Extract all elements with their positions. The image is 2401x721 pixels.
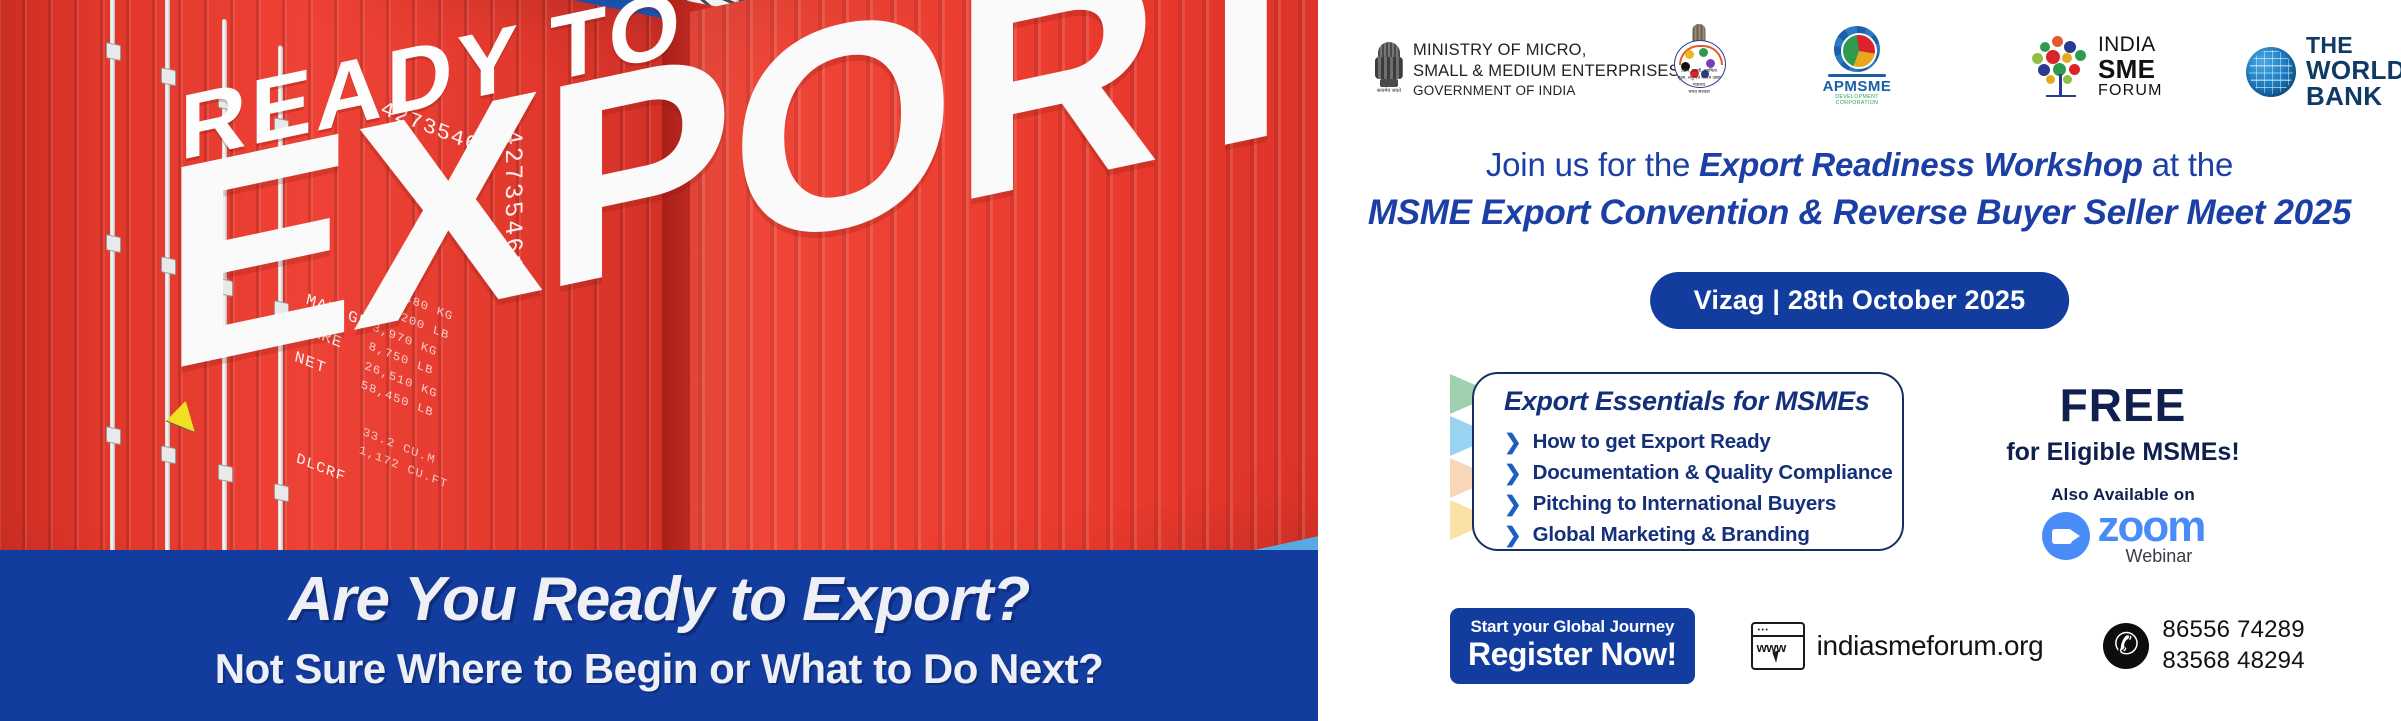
event-banner: 42735461 42735461 MAX GR TARE NET 30,480… — [0, 0, 2401, 721]
partner-logo-row: सत्यमेव जयते MINISTRY OF MICRO, SMALL & … — [1318, 22, 2401, 118]
ministry-line-3: GOVERNMENT OF INDIA — [1413, 82, 1680, 99]
container-rib — [986, 0, 990, 608]
essentials-list: ❯ How to get Export Ready ❯ Documentatio… — [1504, 430, 1893, 554]
essentials-box: Export Essentials for MSMEs ❯ How to get… — [1472, 372, 1904, 551]
container-rib — [1250, 0, 1254, 551]
logo-ministry-msme: सत्यमेव जयते MINISTRY OF MICRO, SMALL & … — [1374, 40, 1680, 99]
chevron-right-icon: ❯ — [1504, 432, 1522, 453]
isf-word-india: INDIA — [2098, 34, 2163, 56]
container-rib — [842, 0, 846, 639]
zoom-camera-icon — [2042, 512, 2090, 560]
container-rib — [1226, 0, 1230, 556]
container-rib — [962, 0, 966, 613]
udyami-bharat-icon: उद्यम, उद्यमी, उद्यमिता सूक्ष्म, लघु एवं… — [1668, 24, 1730, 104]
join-line: Join us for the Export Readiness Worksho… — [1318, 146, 2401, 184]
hero-image: 42735461 42735461 MAX GR TARE NET 30,480… — [0, 0, 1318, 721]
rod-clamp — [161, 67, 176, 86]
world-bank-globe-icon — [2246, 47, 2296, 97]
cta-row: Start your Global Journey Register Now! … — [1450, 608, 2380, 684]
phone-number-1: 86556 74289 — [2162, 615, 2304, 646]
ministry-text: MINISTRY OF MICRO, SMALL & MEDIUM ENTERP… — [1413, 40, 1680, 99]
container-rib — [1178, 0, 1182, 566]
container-rib — [890, 0, 894, 629]
wb-word-bank: BANK — [2306, 83, 2401, 109]
workshop-name: Export Readiness Workshop — [1699, 146, 2143, 183]
phone-number-2: 83568 48294 — [2162, 646, 2304, 677]
container-rib — [48, 0, 51, 594]
rod-clamp — [106, 234, 121, 253]
chevron-right-icon: ❯ — [1504, 463, 1522, 484]
free-eligibility: for Eligible MSMEs! — [1958, 438, 2288, 467]
free-offer-block: FREE for Eligible MSMEs! Also Available … — [1958, 378, 2288, 565]
ashoka-emblem-icon: सत्यमेव जयते — [1374, 42, 1404, 98]
free-headline: FREE — [1958, 378, 2288, 432]
container-rib — [152, 0, 155, 615]
emblem-motto: सत्यमेव जयते — [1371, 88, 1407, 94]
chevron-right-icon: ❯ — [1504, 525, 1522, 546]
event-title: MSME Export Convention & Reverse Buyer S… — [1318, 193, 2401, 233]
zoom-wordmark: zoom Webinar — [2098, 507, 2205, 565]
world-bank-text: THE WORLD BANK — [2306, 34, 2401, 109]
join-suffix: at the — [2143, 146, 2233, 183]
isf-word-forum: FORUM — [2098, 83, 2163, 100]
container-locking-rod — [110, 0, 115, 607]
browser-window-icon: ••• www — [1751, 622, 1805, 670]
container-rib — [914, 0, 918, 624]
container-rib — [866, 0, 870, 634]
phone-icon — [2103, 623, 2149, 669]
container-rib — [1130, 0, 1134, 577]
hero-caption-band: Are You Ready to Export? Not Sure Where … — [0, 550, 1318, 721]
ministry-line-1: MINISTRY OF MICRO, — [1413, 40, 1680, 61]
container-rib — [818, 0, 822, 644]
rod-clamp — [161, 256, 176, 275]
register-button-tagline: Start your Global Journey — [1468, 617, 1677, 637]
logo-india-sme-forum: INDIA SME FORUM — [2030, 34, 2163, 100]
register-now-button[interactable]: Start your Global Journey Register Now! — [1450, 608, 1695, 684]
container-rib — [1202, 0, 1206, 561]
essentials-title: Export Essentials for MSMEs — [1504, 386, 1870, 417]
contact-phones[interactable]: 86556 74289 83568 48294 — [2103, 615, 2304, 676]
container-rib — [1010, 0, 1014, 603]
container-rib — [178, 0, 181, 620]
isf-word-sme: SME — [2098, 56, 2163, 83]
rod-clamp — [274, 483, 289, 502]
essentials-item-label: Pitching to International Buyers — [1533, 492, 1836, 516]
essentials-item-label: Global Marketing & Branding — [1533, 523, 1810, 547]
container-rib — [22, 0, 25, 589]
register-button-label: Register Now! — [1468, 636, 1677, 673]
rod-clamp — [218, 464, 233, 483]
essentials-item-label: Documentation & Quality Compliance — [1533, 461, 1893, 485]
rod-clamp — [106, 426, 121, 445]
container-rib — [1034, 0, 1038, 598]
list-item: ❯ Global Marketing & Branding — [1504, 523, 1893, 547]
container-locking-rod — [222, 19, 227, 640]
phone-numbers: 86556 74289 83568 48294 — [2162, 615, 2304, 676]
chevron-right-icon: ❯ — [1504, 494, 1522, 515]
list-item: ❯ Pitching to International Buyers — [1504, 492, 1893, 516]
container-locking-rod — [165, 0, 170, 623]
date-location-badge: Vizag | 28th October 2025 — [1650, 272, 2070, 329]
container-rib — [1154, 0, 1158, 572]
container-rib — [126, 0, 129, 610]
list-item: ❯ How to get Export Ready — [1504, 430, 1893, 454]
rod-clamp — [106, 42, 121, 61]
rod-clamp — [274, 117, 289, 136]
website-url: indiasmeforum.org — [1817, 630, 2044, 662]
join-prefix: Join us for the — [1486, 146, 1699, 183]
logo-world-bank: THE WORLD BANK — [2246, 34, 2401, 109]
container-rib — [1298, 0, 1302, 541]
container-rib — [256, 0, 259, 636]
rod-clamp — [274, 300, 289, 319]
logo-apmsme: APMSME DEVELOPMENT CORPORATION — [1818, 24, 1896, 104]
rod-clamp — [161, 445, 176, 464]
container-rib — [938, 0, 942, 618]
essentials-item-label: How to get Export Ready — [1533, 430, 1771, 454]
container-rib — [1058, 0, 1062, 592]
info-panel: सत्यमेव जयते MINISTRY OF MICRO, SMALL & … — [1318, 0, 2401, 721]
container-rib — [74, 0, 77, 599]
india-sme-forum-tree-icon — [2030, 34, 2092, 100]
website-link[interactable]: ••• www indiasmeforum.org — [1751, 622, 2044, 670]
apmsme-subtitle: DEVELOPMENT CORPORATION — [1818, 94, 1896, 106]
rod-clamp — [218, 92, 233, 111]
container-rib — [1106, 0, 1110, 582]
apmsme-title: APMSME — [1818, 78, 1896, 95]
logo-udyami-bharat: उद्यम, उद्यमी, उद्यमिता सूक्ष्म, लघु एवं… — [1668, 24, 1730, 104]
list-item: ❯ Documentation & Quality Compliance — [1504, 461, 1893, 485]
india-sme-forum-text: INDIA SME FORUM — [2098, 34, 2163, 99]
container-code-vertical: 42735461 — [498, 127, 527, 277]
wb-word-world: WORLD — [2306, 57, 2401, 83]
export-essentials-card: Export Essentials for MSMEs ❯ How to get… — [1450, 372, 1900, 550]
zoom-name: zoom — [2098, 507, 2205, 547]
ministry-line-2: SMALL & MEDIUM ENTERPRISES — [1413, 61, 1680, 82]
event-intro: Join us for the Export Readiness Worksho… — [1318, 146, 2401, 233]
container-rib — [1274, 0, 1278, 546]
wb-word-the: THE — [2306, 34, 2401, 57]
apmsme-icon: APMSME DEVELOPMENT CORPORATION — [1818, 24, 1896, 104]
hero-subheadline: Not Sure Where to Begin or What to Do Ne… — [0, 645, 1318, 693]
udyami-caption: उद्यम, उद्यमी, उद्यमिता सूक्ष्म, लघु एवं… — [1674, 68, 1724, 96]
rod-clamp — [218, 278, 233, 297]
container-rib — [100, 0, 103, 604]
container-rib — [1082, 0, 1086, 587]
zoom-logo: zoom Webinar — [1958, 507, 2288, 565]
container-rib — [204, 0, 207, 626]
hero-headline: Are You Ready to Export? — [0, 564, 1318, 635]
www-label: www — [1757, 640, 1786, 655]
